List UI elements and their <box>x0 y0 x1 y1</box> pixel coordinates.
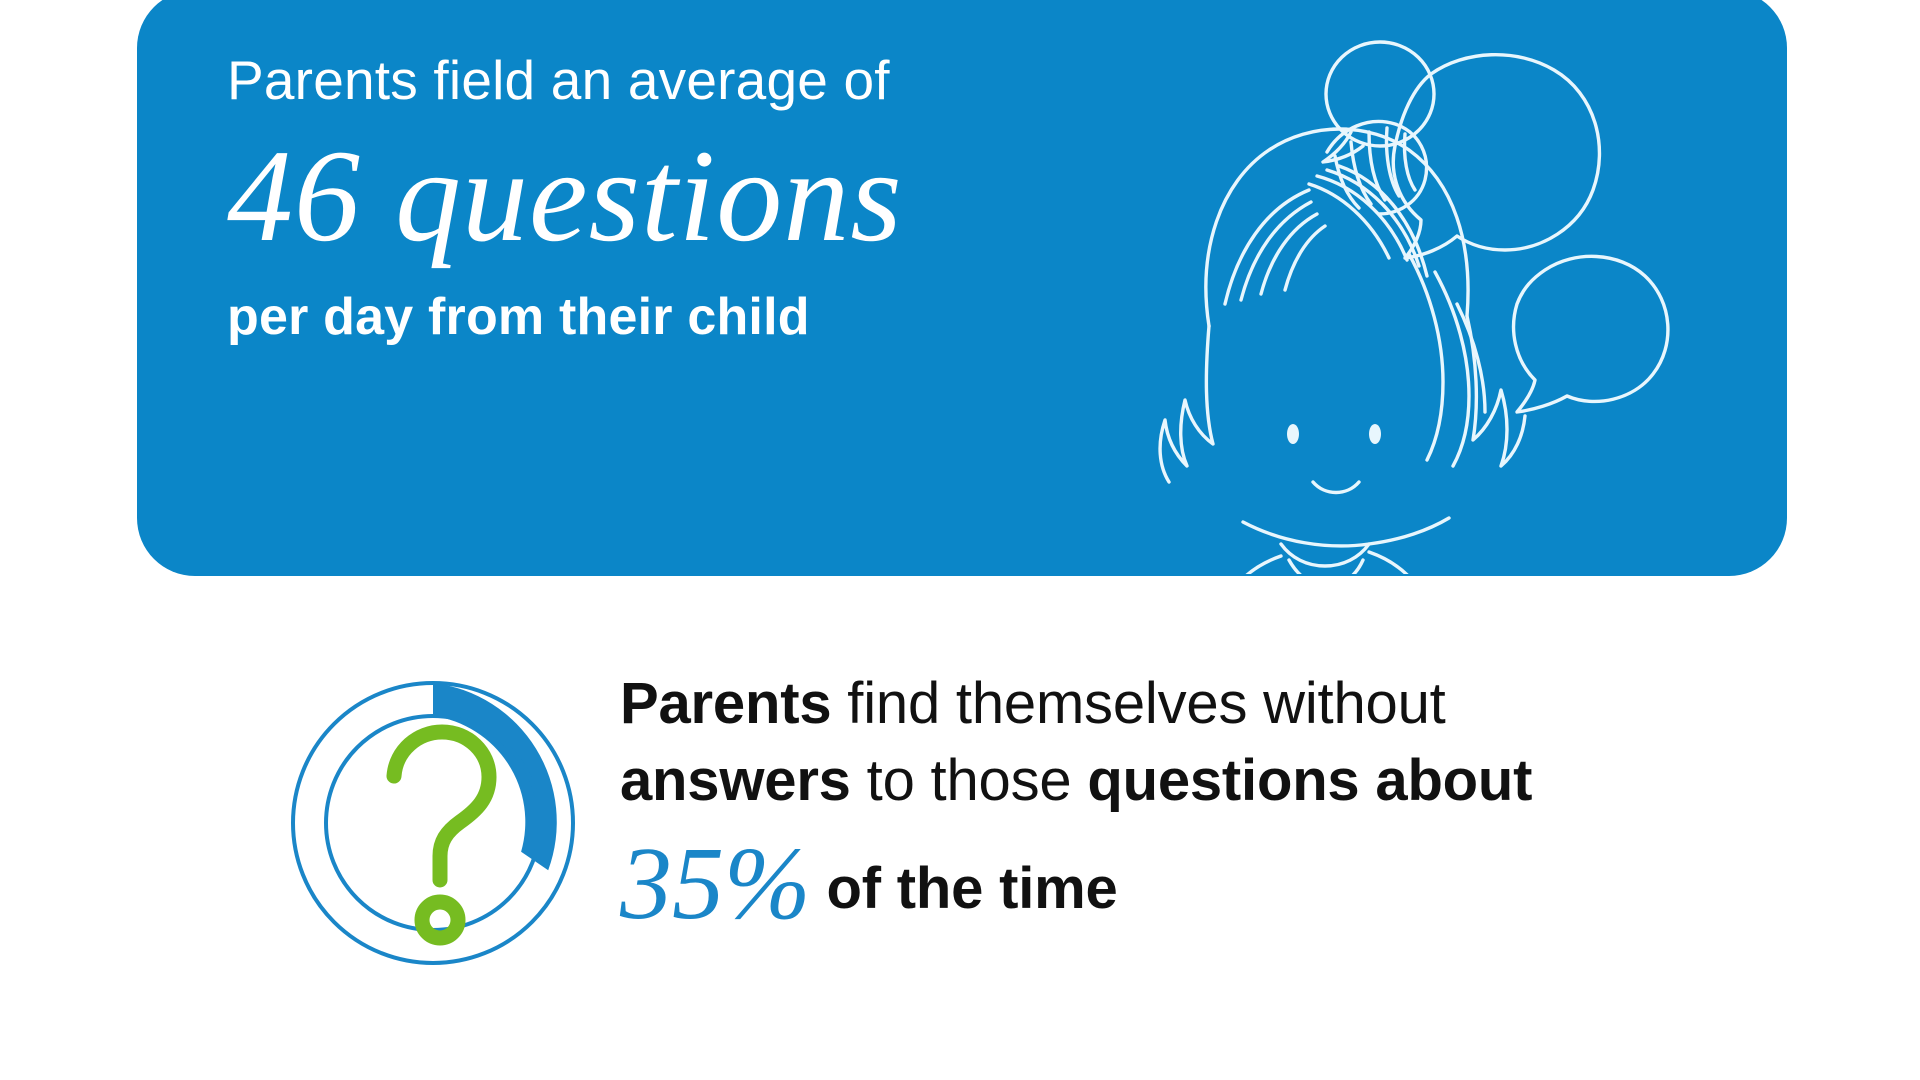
card-intro-line: Parents field an average of <box>227 50 1107 111</box>
infographic-canvas: Parents field an average of 46 questions… <box>0 0 1920 1080</box>
card-detail-line: per day from their child <box>227 287 1107 347</box>
lower-stat-section: Parents find themselves without answers … <box>0 636 1920 1066</box>
lower-line-3-rest: of the time <box>811 856 1118 921</box>
blue-stat-card: Parents field an average of 46 questions… <box>137 0 1787 576</box>
lower-line-1: Parents find themselves without <box>620 666 1800 743</box>
lower-line-1-rest: find themselves without <box>831 671 1445 736</box>
girl-with-speech-bubbles-icon <box>1113 4 1753 574</box>
lower-line-2-bold2: questions about <box>1087 748 1532 813</box>
card-text-block: Parents field an average of 46 questions… <box>227 50 1107 347</box>
question-mark-icon <box>394 732 489 938</box>
percent-value: 35% <box>620 826 811 941</box>
lower-line-3: 35% of the time <box>620 829 1800 938</box>
lower-line-2: answers to those questions about <box>620 743 1800 820</box>
lower-line-2-bold: answers <box>620 748 851 813</box>
card-stat-line: 46 questions <box>227 127 1107 266</box>
lower-line-2-mid: to those <box>851 748 1088 813</box>
lower-text-block: Parents find themselves without answers … <box>620 666 1800 938</box>
donut-chart <box>268 658 598 988</box>
lower-line-1-bold: Parents <box>620 671 831 736</box>
